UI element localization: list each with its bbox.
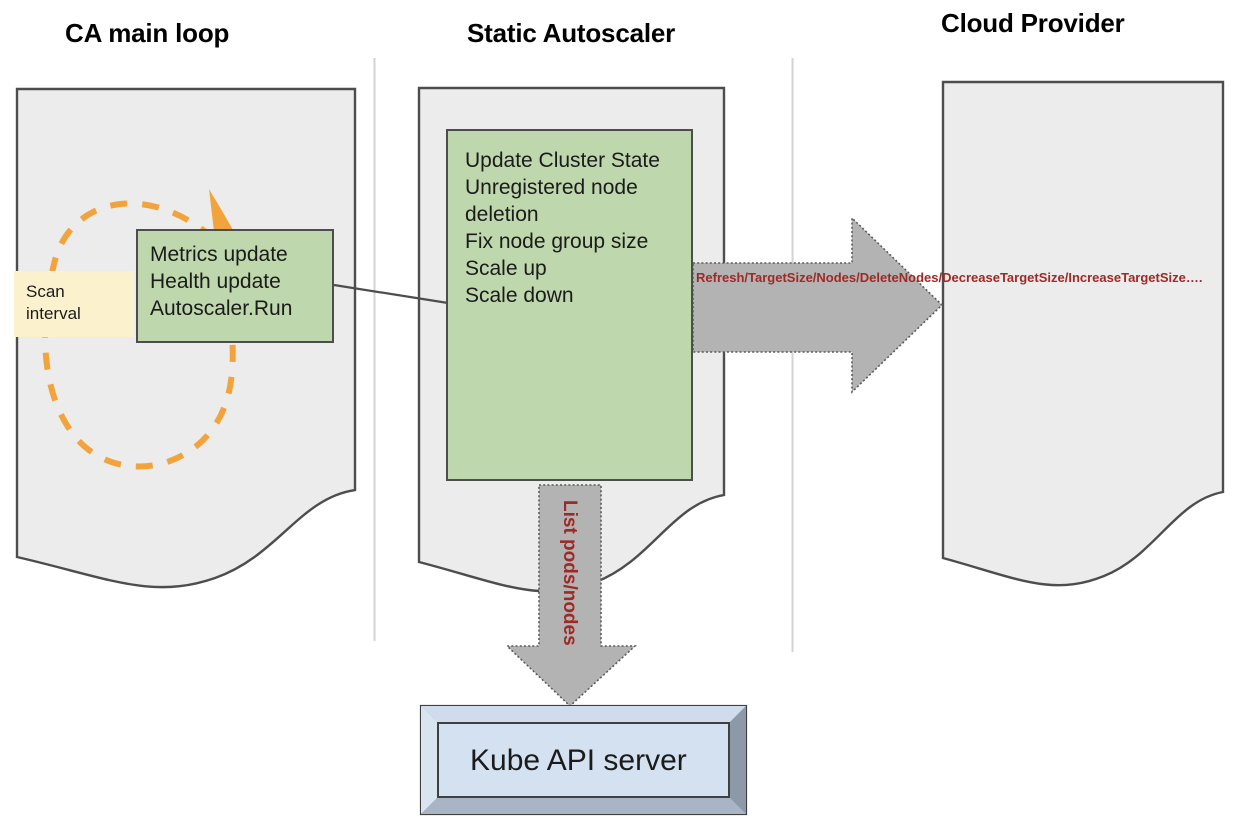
arrow-to-cloud-provider bbox=[693, 218, 942, 392]
diagram-root: CA main loop Static Autoscaler Cloud Pro… bbox=[0, 0, 1240, 838]
metrics-update-box-label: Metrics update Health update Autoscaler.… bbox=[138, 231, 332, 322]
lane-title-ca-main-loop: CA main loop bbox=[65, 18, 229, 49]
arrow-to-cloud-provider-label: Refresh/TargetSize/Nodes/DeleteNodes/Dec… bbox=[696, 269, 896, 286]
arrow-to-kube-api-label: List pods/nodes bbox=[558, 500, 580, 646]
lane-title-cloud-provider: Cloud Provider bbox=[941, 8, 1125, 39]
lane-title-static-autoscaler: Static Autoscaler bbox=[467, 18, 675, 49]
static-autoscaler-box[interactable]: Update Cluster State Unregistered node d… bbox=[446, 129, 693, 481]
static-autoscaler-box-label: Update Cluster State Unregistered node d… bbox=[448, 131, 691, 309]
lane-shape-cloud-provider bbox=[943, 82, 1223, 585]
metrics-update-box[interactable]: Metrics update Health update Autoscaler.… bbox=[136, 229, 334, 343]
scan-interval-note-label: Scan interval bbox=[14, 271, 134, 325]
kube-api-server-label: Kube API server bbox=[470, 744, 687, 778]
scan-interval-note: Scan interval bbox=[14, 271, 134, 337]
